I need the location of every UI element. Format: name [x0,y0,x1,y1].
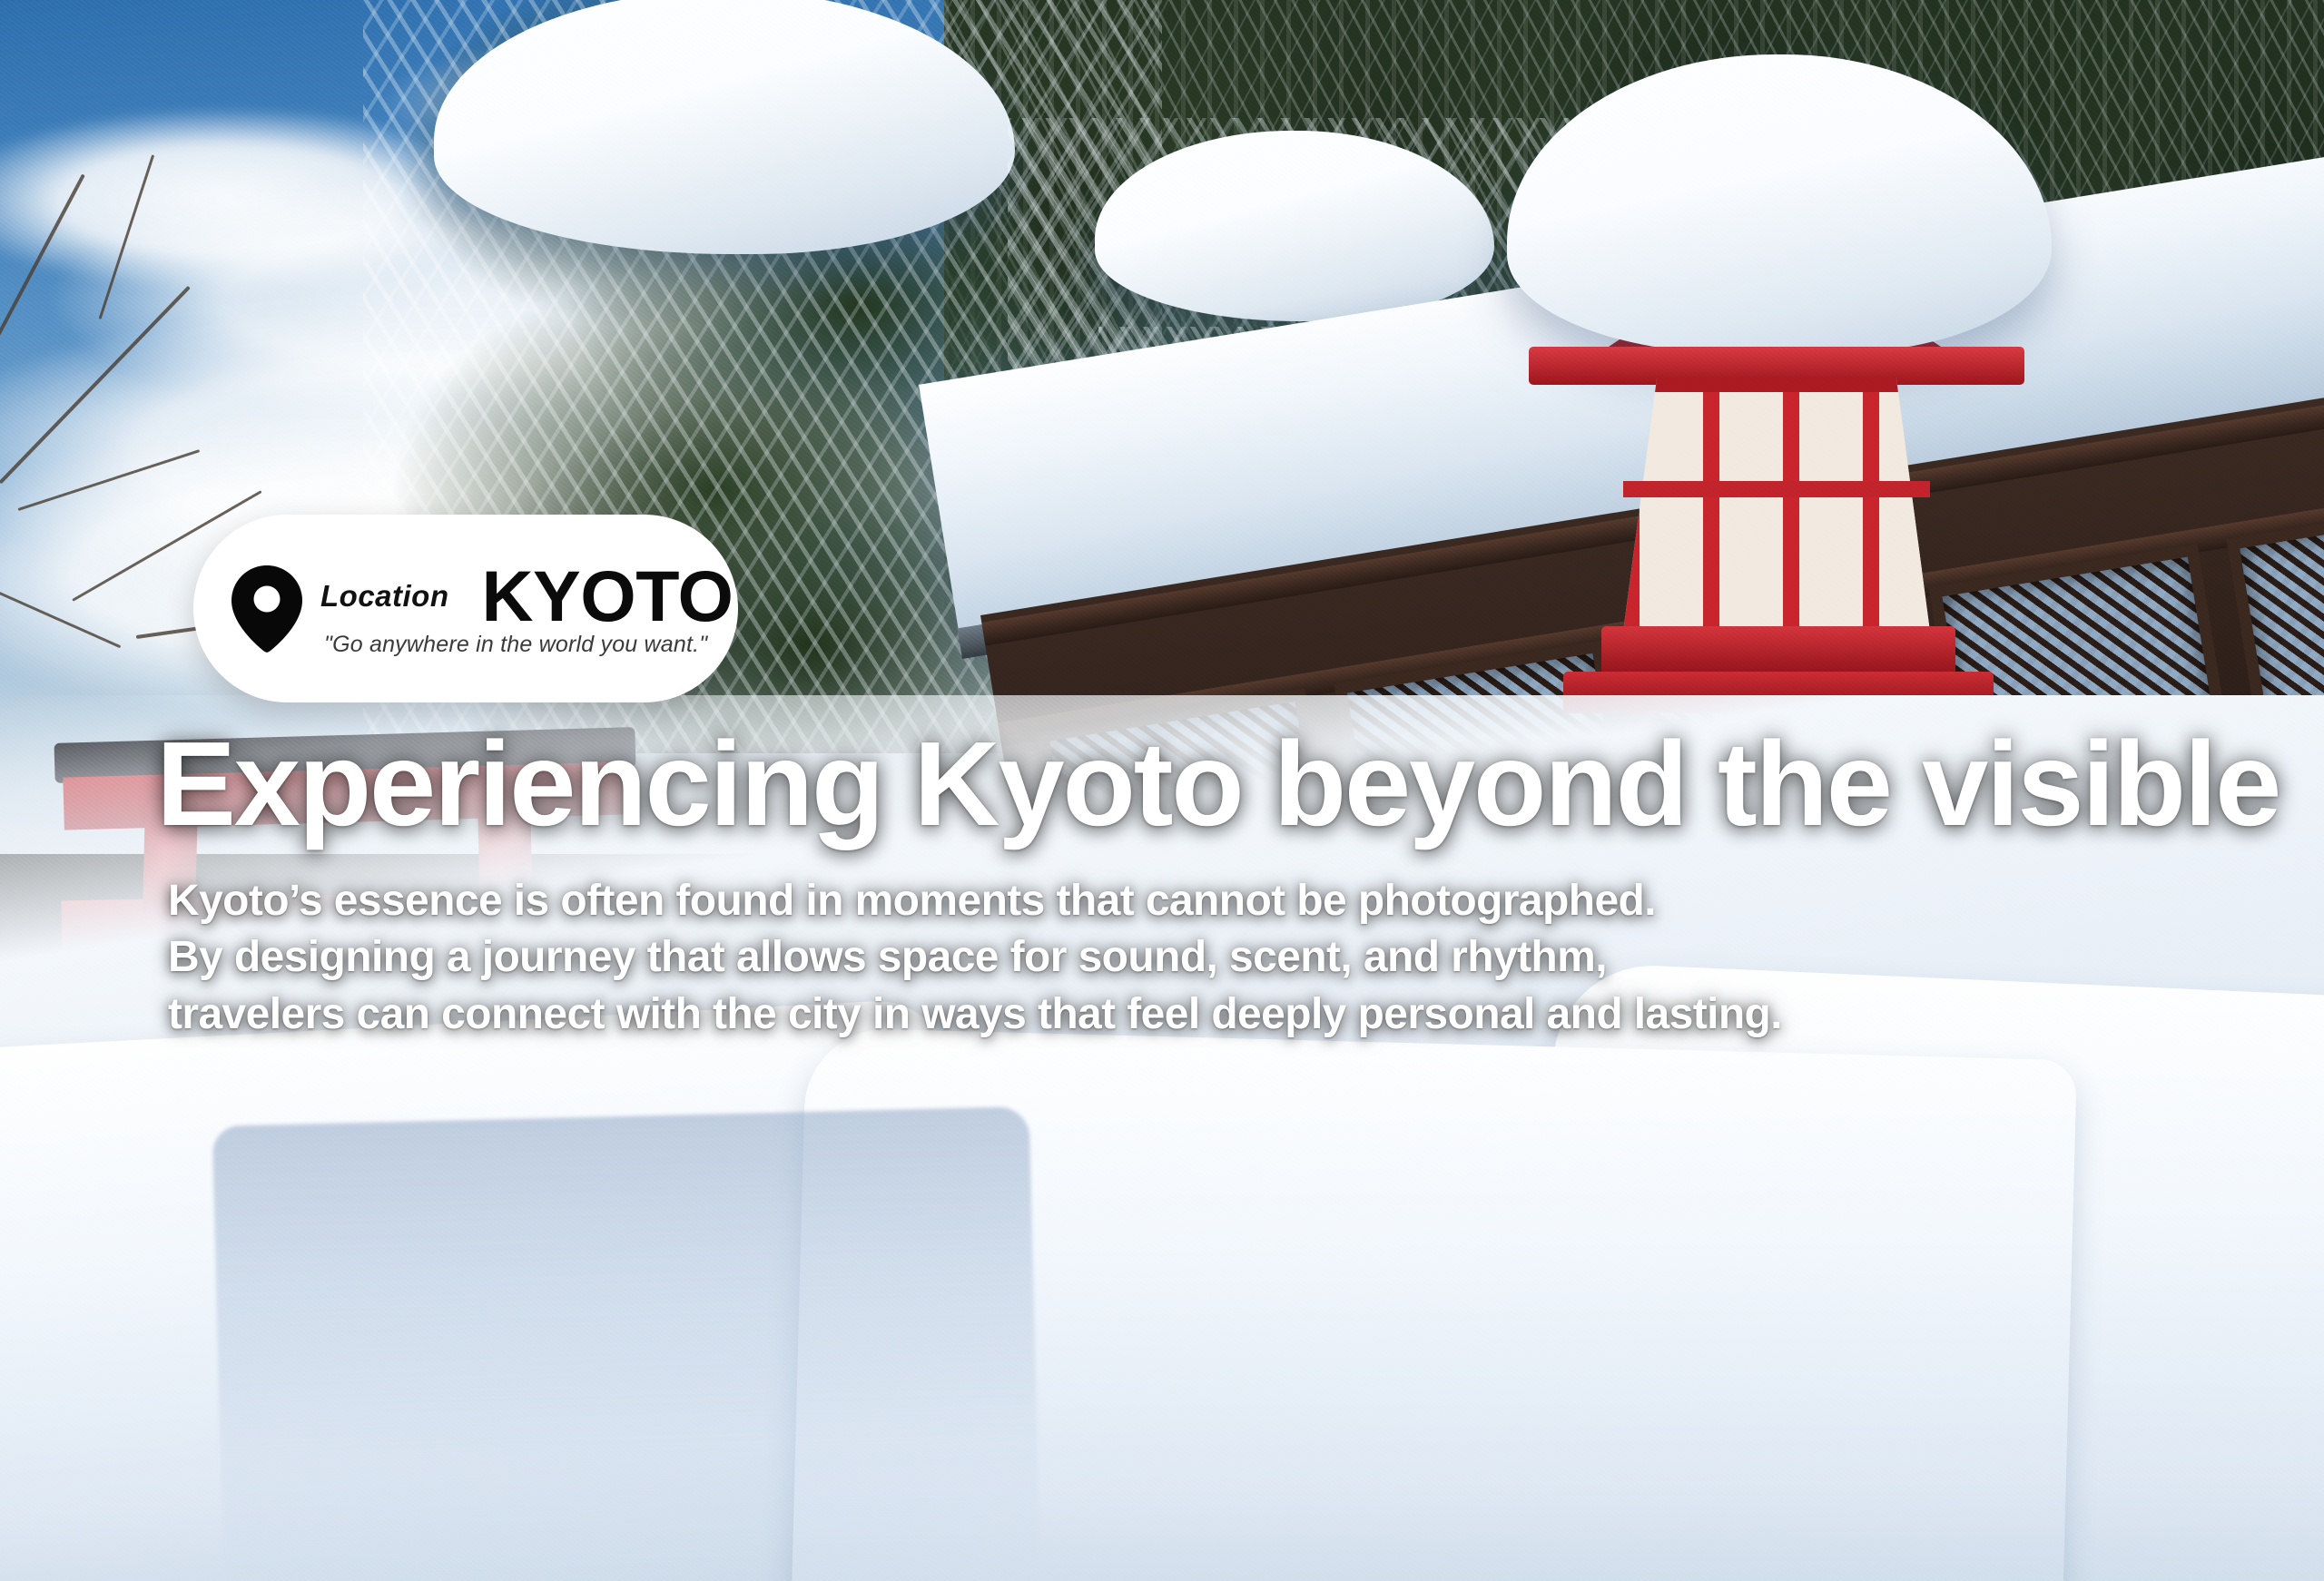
description-line-3: travelers can connect with the city in w… [168,987,1782,1043]
description-text: Kyoto’s essence is often found in moment… [168,873,1782,1043]
page-title: Experiencing Kyoto beyond the visible [156,723,2280,846]
hero-banner: Location KYOTO "Go anywhere in the world… [0,0,2324,1581]
location-badge[interactable]: Location KYOTO "Go anywhere in the world… [193,515,738,702]
description-line-2: By designing a journey that allows space… [168,929,1782,986]
description-line-1: Kyoto’s essence is often found in moment… [168,873,1782,929]
location-label: Location [320,581,449,611]
overlay-content: Location KYOTO "Go anywhere in the world… [0,0,2324,1581]
badge-tagline: "Go anywhere in the world you want." [324,632,707,657]
location-name: KYOTO [482,560,734,632]
map-pin-icon [231,565,302,653]
